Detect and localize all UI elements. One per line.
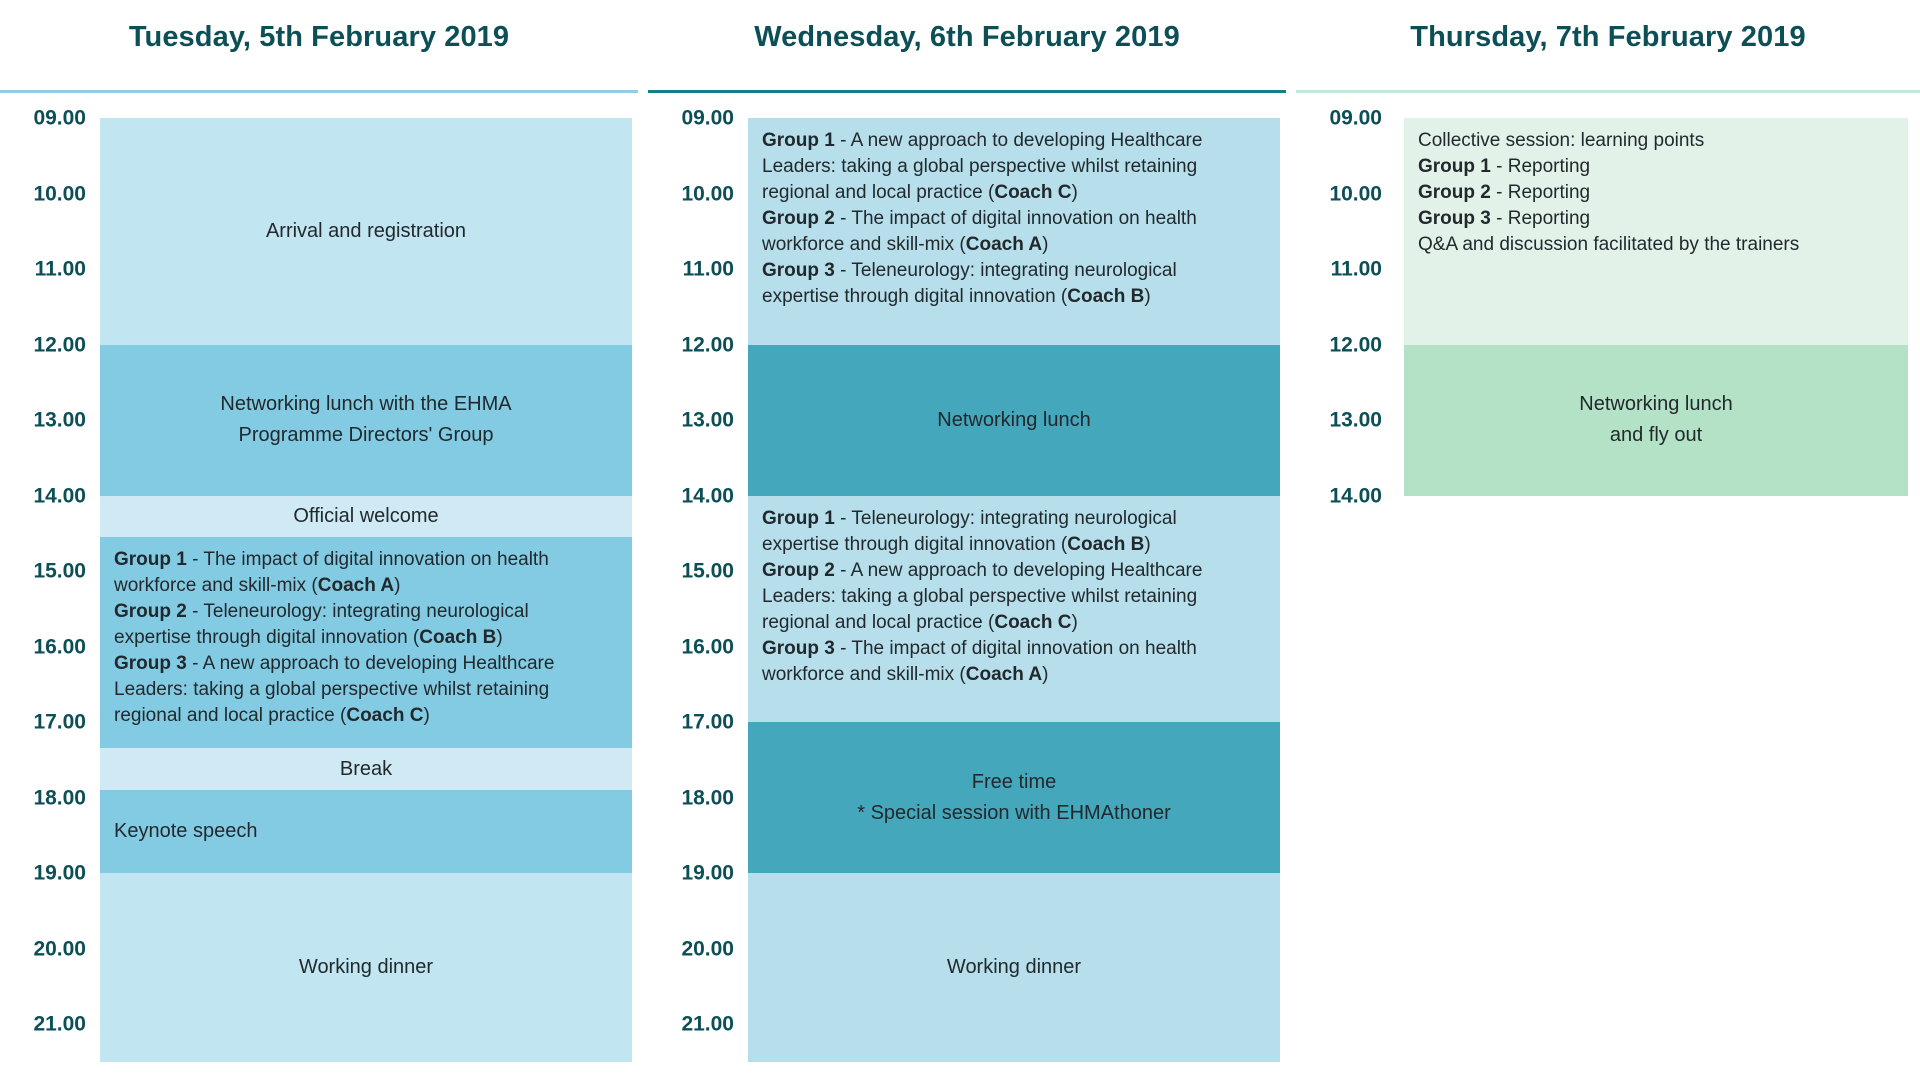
emphasis-text: Coach A (318, 575, 394, 596)
block-line: regional and local practice (Coach C) (762, 180, 1078, 206)
block-line: Collective session: learning points (1418, 128, 1704, 154)
plain-text: Keynote speech (114, 820, 257, 842)
plain-text: Collective session: learning points (1418, 130, 1704, 151)
time-label: 20.00 (0, 938, 86, 959)
block-line: workforce and skill-mix (Coach A) (114, 573, 400, 599)
plain-text: expertise through digital innovation ( (762, 286, 1067, 307)
time-label: 10.00 (648, 183, 734, 204)
time-label: 18.00 (0, 787, 86, 808)
block-line: Group 3 - Reporting (1418, 206, 1590, 232)
block-line: and fly out (1610, 420, 1702, 451)
blocks-thursday: Collective session: learning pointsGroup… (1404, 93, 1908, 1053)
plain-text: ) (1071, 612, 1077, 633)
plain-text: - Reporting (1491, 182, 1590, 203)
plain-text: Free time (972, 771, 1056, 793)
day-header-wednesday: Wednesday, 6th February 2019 (648, 0, 1286, 90)
block-line: expertise through digital innovation (Co… (762, 532, 1151, 558)
plain-text: ) (394, 575, 400, 596)
schedule-block-group-sessions-afternoon[interactable]: Group 1 - Teleneurology: integrating neu… (748, 496, 1280, 723)
block-content: Working dinner (100, 873, 632, 1062)
time-label: 14.00 (0, 485, 86, 506)
plain-text: workforce and skill-mix ( (114, 575, 318, 596)
plain-text: Leaders: taking a global perspective whi… (762, 586, 1197, 607)
block-line: Programme Directors' Group (239, 420, 494, 451)
schedule-block-group-sessions[interactable]: Group 1 - The impact of digital innovati… (100, 537, 632, 748)
block-line: Free time (972, 767, 1056, 798)
blocks-wednesday: Group 1 - A new approach to developing H… (748, 93, 1280, 1053)
block-line: Q&A and discussion facilitated by the tr… (1418, 232, 1799, 258)
plain-text: regional and local practice ( (762, 612, 994, 633)
plain-text: workforce and skill-mix ( (762, 234, 966, 255)
block-content: Working dinner (748, 873, 1280, 1062)
emphasis-text: Coach C (994, 182, 1071, 203)
block-content: Group 1 - The impact of digital innovati… (100, 537, 632, 748)
time-label: 14.00 (648, 485, 734, 506)
time-label: 17.00 (0, 712, 86, 733)
plain-text: Leaders: taking a global perspective whi… (114, 679, 549, 700)
block-content: Networking lunch (748, 345, 1280, 496)
time-label: 11.00 (1296, 259, 1382, 280)
time-label: 16.00 (0, 636, 86, 657)
plain-text: Programme Directors' Group (239, 424, 494, 446)
time-label: 17.00 (648, 712, 734, 733)
block-line: Networking lunch (937, 405, 1090, 436)
plain-text: - Reporting (1491, 208, 1590, 229)
time-label: 20.00 (648, 938, 734, 959)
block-line: Group 1 - A new approach to developing H… (762, 128, 1202, 154)
plain-text: - The impact of digital innovation on he… (835, 208, 1197, 229)
block-line: Group 2 - Reporting (1418, 180, 1590, 206)
time-label: 19.00 (648, 863, 734, 884)
time-label: 15.00 (648, 561, 734, 582)
plain-text: Leaders: taking a global perspective whi… (762, 156, 1197, 177)
block-line: workforce and skill-mix (Coach A) (762, 662, 1048, 688)
block-line: Group 1 - Reporting (1418, 154, 1590, 180)
emphasis-text: Group 2 (1418, 182, 1491, 203)
emphasis-text: Coach B (1067, 286, 1144, 307)
emphasis-text: Coach C (994, 612, 1071, 633)
block-line: workforce and skill-mix (Coach A) (762, 232, 1048, 258)
block-content: Official welcome (100, 496, 632, 538)
emphasis-text: Group 2 (762, 208, 835, 229)
emphasis-text: Coach B (1067, 534, 1144, 555)
schedule-block-group-sessions-morning[interactable]: Group 1 - A new approach to developing H… (748, 118, 1280, 345)
schedule-block-networking-lunch-and-fly-out[interactable]: Networking lunchand fly out (1404, 345, 1908, 496)
time-label: 15.00 (0, 561, 86, 582)
plain-text: and fly out (1610, 424, 1702, 446)
plain-text: Networking lunch (1579, 393, 1732, 415)
block-content: Networking lunchand fly out (1404, 345, 1908, 496)
schedule-block-working-dinner[interactable]: Working dinner (100, 873, 632, 1062)
emphasis-text: Group 1 (1418, 156, 1491, 177)
schedule-block-collective-session[interactable]: Collective session: learning pointsGroup… (1404, 118, 1908, 345)
schedule-block-break[interactable]: Break (100, 748, 632, 790)
plain-text: Official welcome (293, 505, 438, 527)
emphasis-text: Group 3 (1418, 208, 1491, 229)
day-body-wednesday: 09.0010.0011.0012.0013.0014.0015.0016.00… (648, 93, 1286, 1053)
schedule-block-arrival-and-registration[interactable]: Arrival and registration (100, 118, 632, 345)
time-gutter-tuesday: 09.0010.0011.0012.0013.0014.0015.0016.00… (0, 93, 100, 1053)
block-line: * Special session with EHMAthoner (857, 798, 1170, 829)
time-label: 11.00 (0, 259, 86, 280)
plain-text: Networking lunch with the EHMA (220, 393, 511, 415)
block-line: Official welcome (293, 501, 438, 532)
time-label: 12.00 (0, 334, 86, 355)
plain-text: Networking lunch (937, 409, 1090, 431)
block-content: Break (100, 748, 632, 790)
emphasis-text: Group 3 (114, 653, 187, 674)
time-label: 19.00 (0, 863, 86, 884)
emphasis-text: Coach C (346, 705, 423, 726)
time-label: 21.00 (648, 1014, 734, 1035)
emphasis-text: Group 1 (762, 508, 835, 529)
time-label: 18.00 (648, 787, 734, 808)
time-label: 21.00 (0, 1014, 86, 1035)
time-label: 09.00 (0, 108, 86, 129)
plain-text: - A new approach to developing Healthcar… (835, 130, 1203, 151)
plain-text: Arrival and registration (266, 220, 466, 242)
day-body-tuesday: 09.0010.0011.0012.0013.0014.0015.0016.00… (0, 93, 638, 1053)
plain-text: expertise through digital innovation ( (762, 534, 1067, 555)
day-title: Thursday, 7th February 2019 (1410, 21, 1805, 54)
day-header-tuesday: Tuesday, 5th February 2019 (0, 0, 638, 90)
block-line: Leaders: taking a global perspective whi… (762, 154, 1197, 180)
block-line: Group 2 - The impact of digital innovati… (762, 206, 1197, 232)
schedule-block-official-welcome[interactable]: Official welcome (100, 496, 632, 538)
emphasis-text: Coach A (966, 664, 1042, 685)
time-label: 09.00 (1296, 108, 1382, 129)
emphasis-text: Coach A (966, 234, 1042, 255)
time-gutter-wednesday: 09.0010.0011.0012.0013.0014.0015.0016.00… (648, 93, 748, 1053)
plain-text: - Teleneurology: integrating neurologica… (835, 260, 1177, 281)
time-label: 13.00 (0, 410, 86, 431)
schedule-block-working-dinner[interactable]: Working dinner (748, 873, 1280, 1062)
time-label: 12.00 (648, 334, 734, 355)
time-gutter-thursday: 09.0010.0011.0012.0013.0014.00 (1296, 93, 1396, 1053)
time-label: 11.00 (648, 259, 734, 280)
plain-text: * Special session with EHMAthoner (857, 802, 1170, 824)
day-header-thursday: Thursday, 7th February 2019 (1296, 0, 1920, 90)
plain-text: workforce and skill-mix ( (762, 664, 966, 685)
block-line: expertise through digital innovation (Co… (114, 625, 503, 651)
schedule-block-networking-lunch-ehma[interactable]: Networking lunch with the EHMAProgramme … (100, 345, 632, 496)
plain-text: Break (340, 758, 392, 780)
block-line: Group 1 - Teleneurology: integrating neu… (762, 506, 1177, 532)
day-title: Tuesday, 5th February 2019 (129, 21, 509, 54)
plain-text: regional and local practice ( (762, 182, 994, 203)
block-line: Group 1 - The impact of digital innovati… (114, 547, 549, 573)
emphasis-text: Group 3 (762, 638, 835, 659)
plain-text: Q&A and discussion facilitated by the tr… (1418, 234, 1799, 255)
plain-text: ) (423, 705, 429, 726)
plain-text: - Reporting (1491, 156, 1590, 177)
block-line: expertise through digital innovation (Co… (762, 284, 1151, 310)
plain-text: - The impact of digital innovation on he… (835, 638, 1197, 659)
block-content: Free time* Special session with EHMAthon… (748, 722, 1280, 873)
block-line: Group 3 - A new approach to developing H… (114, 651, 554, 677)
block-line: Group 2 - A new approach to developing H… (762, 558, 1202, 584)
time-label: 13.00 (648, 410, 734, 431)
conference-agenda: Tuesday, 5th February 2019 09.0010.0011.… (0, 0, 1920, 1080)
plain-text: ) (1144, 534, 1150, 555)
plain-text: Working dinner (947, 956, 1081, 978)
plain-text: ) (1042, 234, 1048, 255)
plain-text: ) (1071, 182, 1077, 203)
block-content: Networking lunch with the EHMAProgramme … (100, 345, 632, 496)
block-line: Working dinner (947, 952, 1081, 983)
day-title: Wednesday, 6th February 2019 (754, 21, 1180, 54)
block-line: Break (340, 754, 392, 785)
plain-text: Working dinner (299, 956, 433, 978)
blocks-tuesday: Arrival and registrationNetworking lunch… (100, 93, 632, 1053)
block-content: Collective session: learning pointsGroup… (1404, 118, 1908, 345)
plain-text: ) (496, 627, 502, 648)
block-line: regional and local practice (Coach C) (762, 610, 1078, 636)
block-line: Working dinner (299, 952, 433, 983)
time-label: 14.00 (1296, 485, 1382, 506)
emphasis-text: Group 3 (762, 260, 835, 281)
block-line: Leaders: taking a global perspective whi… (762, 584, 1197, 610)
day-column-wednesday: Wednesday, 6th February 2019 09.0010.001… (648, 0, 1286, 1080)
block-line: Networking lunch with the EHMA (220, 389, 511, 420)
schedule-block-keynote-speech[interactable]: Keynote speech (100, 790, 632, 873)
emphasis-text: Coach B (419, 627, 496, 648)
time-label: 10.00 (0, 183, 86, 204)
block-content: Keynote speech (100, 790, 632, 873)
time-label: 09.00 (648, 108, 734, 129)
plain-text: expertise through digital innovation ( (114, 627, 419, 648)
schedule-block-free-time[interactable]: Free time* Special session with EHMAthon… (748, 722, 1280, 873)
schedule-block-networking-lunch[interactable]: Networking lunch (748, 345, 1280, 496)
time-label: 10.00 (1296, 183, 1382, 204)
plain-text: - The impact of digital innovation on he… (187, 549, 549, 570)
plain-text: ) (1042, 664, 1048, 685)
plain-text: regional and local practice ( (114, 705, 346, 726)
block-line: Group 3 - The impact of digital innovati… (762, 636, 1197, 662)
block-line: Group 2 - Teleneurology: integrating neu… (114, 599, 529, 625)
plain-text: - A new approach to developing Healthcar… (187, 653, 555, 674)
emphasis-text: Group 1 (114, 549, 187, 570)
plain-text: - Teleneurology: integrating neurologica… (835, 508, 1177, 529)
block-line: Group 3 - Teleneurology: integrating neu… (762, 258, 1177, 284)
block-content: Group 1 - Teleneurology: integrating neu… (748, 496, 1280, 723)
emphasis-text: Group 1 (762, 130, 835, 151)
block-line: regional and local practice (Coach C) (114, 703, 430, 729)
day-column-tuesday: Tuesday, 5th February 2019 09.0010.0011.… (0, 0, 638, 1080)
time-label: 13.00 (1296, 410, 1382, 431)
plain-text: - Teleneurology: integrating neurologica… (187, 601, 529, 622)
plain-text: ) (1144, 286, 1150, 307)
day-column-thursday: Thursday, 7th February 2019 09.0010.0011… (1296, 0, 1920, 1080)
day-body-thursday: 09.0010.0011.0012.0013.0014.00 Collectiv… (1296, 93, 1920, 1053)
block-content: Arrival and registration (100, 118, 632, 345)
block-content: Group 1 - A new approach to developing H… (748, 118, 1280, 345)
emphasis-text: Group 2 (114, 601, 187, 622)
block-line: Leaders: taking a global perspective whi… (114, 677, 549, 703)
emphasis-text: Group 2 (762, 560, 835, 581)
block-line: Networking lunch (1579, 389, 1732, 420)
time-label: 16.00 (648, 636, 734, 657)
block-line: Arrival and registration (266, 216, 466, 247)
block-line: Keynote speech (114, 816, 257, 847)
time-label: 12.00 (1296, 334, 1382, 355)
plain-text: - A new approach to developing Healthcar… (835, 560, 1203, 581)
